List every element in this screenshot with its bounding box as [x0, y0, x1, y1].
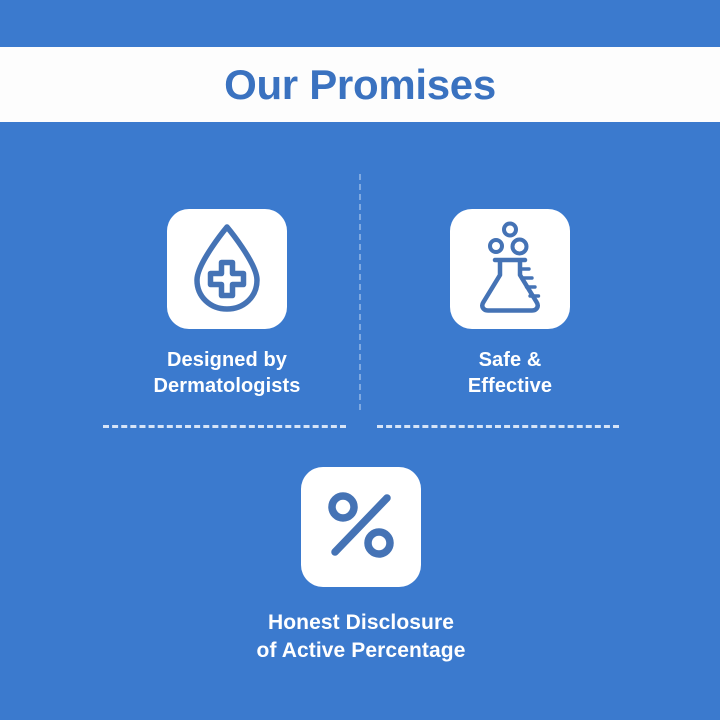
promises-poster: Our Promises Designed by Dermatologists [0, 0, 720, 720]
divider-horizontal-left [103, 425, 346, 428]
flask-bubbles-icon [467, 220, 553, 319]
page-title: Our Promises [224, 64, 496, 106]
header-band: Our Promises [0, 47, 720, 122]
icon-card-honest-disclosure [301, 467, 421, 587]
promise-item-safe-effective: Safe & Effective [390, 209, 630, 400]
divider-vertical [359, 174, 361, 410]
percent-icon [325, 489, 397, 566]
promise-label-safe-effective: Safe & Effective [468, 347, 552, 400]
icon-card-safe-effective [450, 209, 570, 329]
promise-item-dermatologists: Designed by Dermatologists [107, 209, 347, 400]
promise-label-honest-disclosure: Honest Disclosure of Active Percentage [257, 609, 466, 664]
promise-label-dermatologists: Designed by Dermatologists [154, 347, 301, 400]
droplet-plus-icon [185, 221, 269, 318]
icon-card-dermatologists [167, 209, 287, 329]
promise-item-honest-disclosure: Honest Disclosure of Active Percentage [233, 467, 489, 664]
divider-horizontal-right [377, 425, 619, 428]
